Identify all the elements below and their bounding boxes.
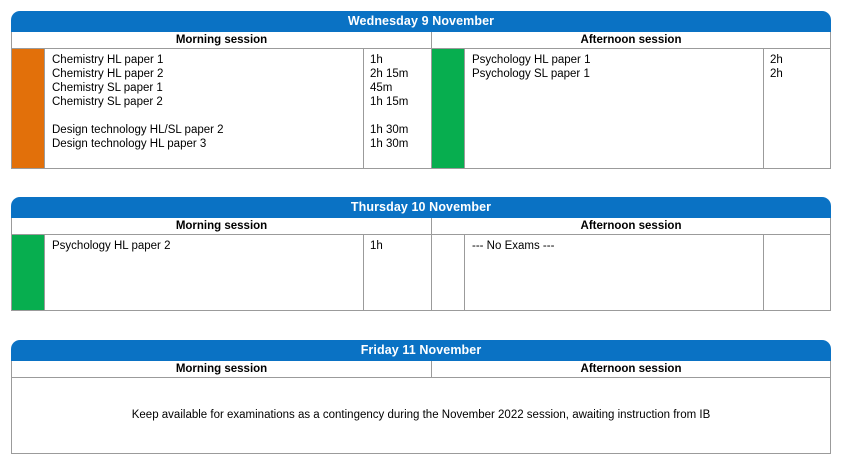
exam-duration: 1h xyxy=(370,53,431,67)
afternoon-exam-list-wednesday: Psychology HL paper 1 Psychology SL pape… xyxy=(465,49,764,168)
session-header-row-thursday: Morning session Afternoon session xyxy=(11,218,831,235)
session-header-afternoon: Afternoon session xyxy=(432,361,830,377)
duration-list-spacer xyxy=(370,109,431,123)
exam-name: Psychology HL paper 1 xyxy=(472,53,763,67)
morning-exam-list-wednesday: Chemistry HL paper 1 Chemistry HL paper … xyxy=(45,49,364,168)
afternoon-duration-list-wednesday: 2h 2h xyxy=(764,49,830,168)
day-title-thursday: Thursday 10 November xyxy=(11,197,831,218)
exam-name: Psychology SL paper 1 xyxy=(472,67,763,81)
exam-list-spacer xyxy=(52,109,363,123)
day-table-friday: Friday 11 November Morning session After… xyxy=(11,340,831,454)
exam-name: Chemistry HL paper 2 xyxy=(52,67,363,81)
morning-duration-list-thursday: 1h xyxy=(364,235,431,310)
exam-duration: 1h 15m xyxy=(370,95,431,109)
day-table-thursday: Thursday 10 November Morning session Aft… xyxy=(11,197,831,311)
exam-timetable-page: Wednesday 9 November Morning session Aft… xyxy=(0,0,842,466)
exam-name: Design technology HL/SL paper 2 xyxy=(52,123,363,137)
day-body-thursday: Psychology HL paper 2 1h --- No Exams --… xyxy=(11,235,831,311)
session-header-afternoon: Afternoon session xyxy=(432,218,830,234)
subject-color-bar-orange xyxy=(12,49,45,168)
subject-color-bar-green xyxy=(12,235,45,310)
morning-block-wednesday: Chemistry HL paper 1 Chemistry HL paper … xyxy=(12,49,432,168)
day-table-wednesday: Wednesday 9 November Morning session Aft… xyxy=(11,11,831,169)
afternoon-block-thursday: --- No Exams --- xyxy=(432,235,830,310)
morning-duration-list-wednesday: 1h 2h 15m 45m 1h 15m 1h 30m 1h 30m xyxy=(364,49,431,168)
morning-exam-list-thursday: Psychology HL paper 2 xyxy=(45,235,364,310)
exam-duration: 45m xyxy=(370,81,431,95)
morning-block-thursday: Psychology HL paper 2 1h xyxy=(12,235,432,310)
exam-name: Chemistry SL paper 2 xyxy=(52,95,363,109)
afternoon-block-wednesday: Psychology HL paper 1 Psychology SL pape… xyxy=(432,49,830,168)
exam-name: Chemistry HL paper 1 xyxy=(52,53,363,67)
exam-duration: 1h 30m xyxy=(370,123,431,137)
exam-duration: 1h xyxy=(370,239,431,253)
contingency-note: Keep available for examinations as a con… xyxy=(122,408,721,423)
session-header-row-friday: Morning session Afternoon session xyxy=(11,361,831,378)
exam-name: Design technology HL paper 3 xyxy=(52,137,363,151)
session-header-morning: Morning session xyxy=(12,218,432,234)
afternoon-exam-list-thursday: --- No Exams --- xyxy=(465,235,764,310)
exam-duration: 2h 15m xyxy=(370,67,431,81)
afternoon-duration-list-thursday xyxy=(764,235,830,310)
session-header-afternoon: Afternoon session xyxy=(432,32,830,48)
day-title-friday: Friday 11 November xyxy=(11,340,831,361)
exam-name: Psychology HL paper 2 xyxy=(52,239,363,253)
session-header-morning: Morning session xyxy=(12,32,432,48)
session-header-row-wednesday: Morning session Afternoon session xyxy=(11,32,831,49)
exam-duration: 2h xyxy=(770,53,830,67)
day-body-friday: Keep available for examinations as a con… xyxy=(11,378,831,454)
subject-color-bar-empty xyxy=(432,235,465,310)
exam-name: Chemistry SL paper 1 xyxy=(52,81,363,95)
no-exams-label: --- No Exams --- xyxy=(472,239,763,253)
day-title-wednesday: Wednesday 9 November xyxy=(11,11,831,32)
exam-duration: 2h xyxy=(770,67,830,81)
exam-duration: 1h 30m xyxy=(370,137,431,151)
session-header-morning: Morning session xyxy=(12,361,432,377)
subject-color-bar-green xyxy=(432,49,465,168)
day-body-wednesday: Chemistry HL paper 1 Chemistry HL paper … xyxy=(11,49,831,169)
